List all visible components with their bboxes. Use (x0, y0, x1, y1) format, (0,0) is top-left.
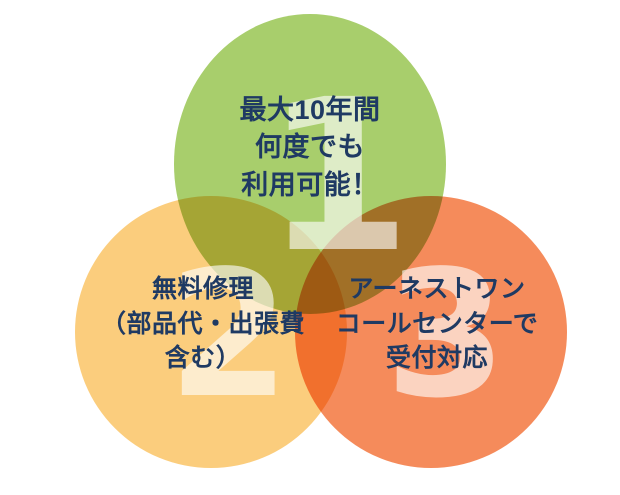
venn-circle-layer (0, 0, 620, 495)
venn-circle-orange (295, 196, 567, 468)
venn-diagram: 1 2 3 最大10年間 何度でも 利用可能！ 無料修理 （部品代・出張費 含む… (0, 0, 620, 495)
